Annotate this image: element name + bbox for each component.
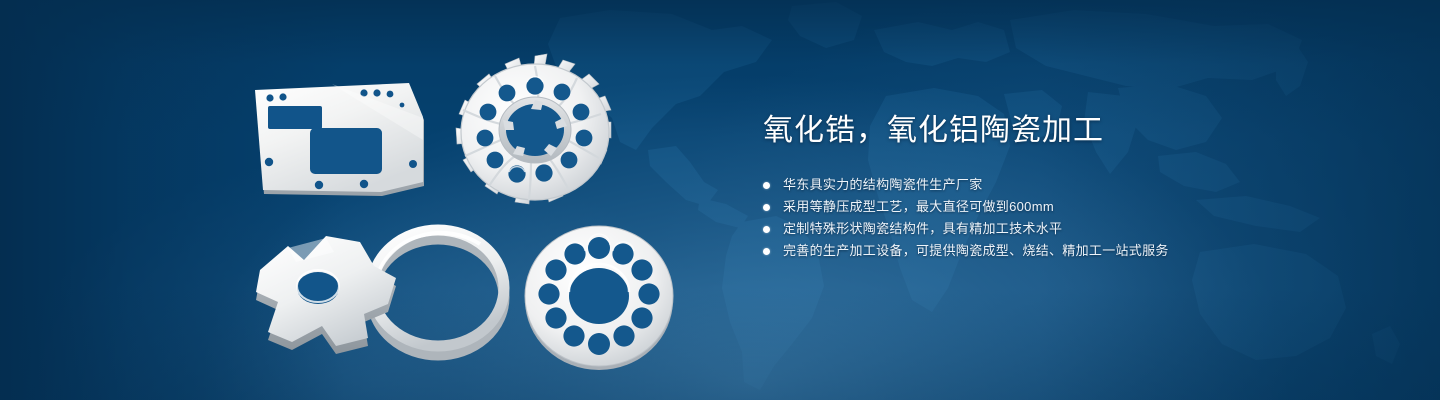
product-ceramic-plate [252, 78, 428, 202]
feature-text: 华东具实力的结构陶瓷件生产厂家 [783, 174, 983, 196]
bullet-dot-icon [763, 182, 770, 189]
feature-text: 完善的生产加工设备，可提供陶瓷成型、烧结、精加工一站式服务 [783, 240, 1169, 262]
product-ceramic-disc [518, 218, 680, 374]
bullet-dot-icon [763, 248, 770, 255]
list-item: 完善的生产加工设备，可提供陶瓷成型、烧结、精加工一站式服务 [763, 240, 1323, 262]
list-item: 定制特殊形状陶瓷结构件，具有精加工技术水平 [763, 218, 1323, 240]
bullet-dot-icon [763, 204, 770, 211]
banner-copy: 氧化锆，氧化铝陶瓷加工 华东具实力的结构陶瓷件生产厂家 采用等静压成型工艺，最大… [763, 112, 1323, 262]
product-ceramic-impeller [443, 52, 629, 218]
feature-text: 定制特殊形状陶瓷结构件，具有精加工技术水平 [783, 218, 1062, 240]
list-item: 采用等静压成型工艺，最大直径可做到600mm [763, 196, 1323, 218]
feature-list: 华东具实力的结构陶瓷件生产厂家 采用等静压成型工艺，最大直径可做到600mm 定… [763, 174, 1323, 262]
bullet-dot-icon [763, 226, 770, 233]
page-title: 氧化锆，氧化铝陶瓷加工 [763, 112, 1323, 150]
feature-text: 采用等静压成型工艺，最大直径可做到600mm [783, 196, 1054, 218]
hero-banner: 氧化锆，氧化铝陶瓷加工 华东具实力的结构陶瓷件生产厂家 采用等静压成型工艺，最大… [0, 0, 1440, 400]
product-ceramic-cross [248, 226, 438, 362]
list-item: 华东具实力的结构陶瓷件生产厂家 [763, 174, 1323, 196]
